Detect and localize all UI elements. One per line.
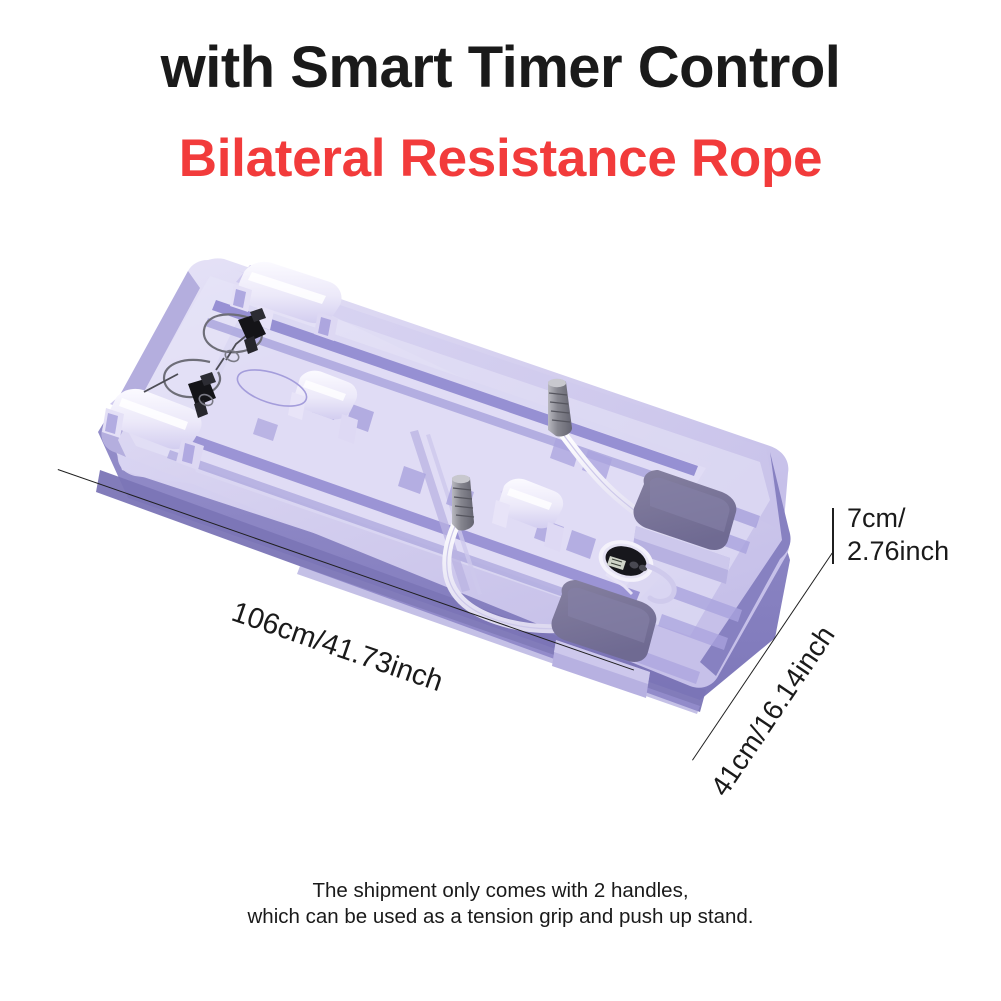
push-up-handle-lower [102,389,204,470]
cable-strands [144,326,258,404]
dimension-label-height-line2: 2.76inch [847,535,949,568]
shipment-note-line1: The shipment only comes with 2 handles, [0,878,1001,904]
shipment-note-line2: which can be used as a tension grip and … [0,904,1001,930]
resistance-cable-loop-upper [204,314,262,352]
smart-timer-display[interactable] [593,533,659,588]
timer-lcd-screen [607,556,626,570]
cable-clip-lower [188,372,216,418]
deck-oval-marking [233,363,311,414]
push-up-handle-upper [230,262,342,341]
foot-pad-upper [632,470,736,584]
timer-button-b[interactable] [638,564,648,572]
dimension-label-length: 106cm/41.73inch [227,596,447,699]
resistance-cable-loop-lower [164,360,220,397]
dimension-leader-height [832,508,834,564]
rail-groove-set [167,300,700,714]
dimension-label-height-line1: 7cm/ [847,502,949,535]
resistance-tube-lower-outline [447,512,628,629]
mid-bracket-lower [492,479,564,552]
footplate-slot-group [636,494,760,684]
dimension-label-height: 7cm/ 2.76inch [847,502,949,568]
foam-grip-lower [452,475,474,531]
board-slab [96,258,791,712]
timer-button-a[interactable] [629,560,640,569]
foot-pad-lower [552,580,657,698]
accessory-hook [648,566,674,601]
cable-ring-connectors [198,349,241,408]
handle-slot-row [253,392,612,559]
deck-inner-panel [186,304,712,618]
product-image-canvas: with Smart Timer Control Bilateral Resis… [0,0,1001,1001]
cable-clip-upper [238,308,266,354]
foam-grip-upper [548,379,572,437]
shipment-note: The shipment only comes with 2 handles, … [0,878,1001,930]
headline-primary: with Smart Timer Control [0,34,1001,101]
mid-bracket-upper [288,371,358,444]
hinge-seam [410,430,482,595]
resistance-tube-upper-outline [560,430,670,536]
resistance-tube-lower [447,512,628,629]
accessory-strap [606,574,632,594]
headline-secondary: Bilateral Resistance Rope [0,128,1001,189]
resistance-tube-upper [560,430,670,536]
